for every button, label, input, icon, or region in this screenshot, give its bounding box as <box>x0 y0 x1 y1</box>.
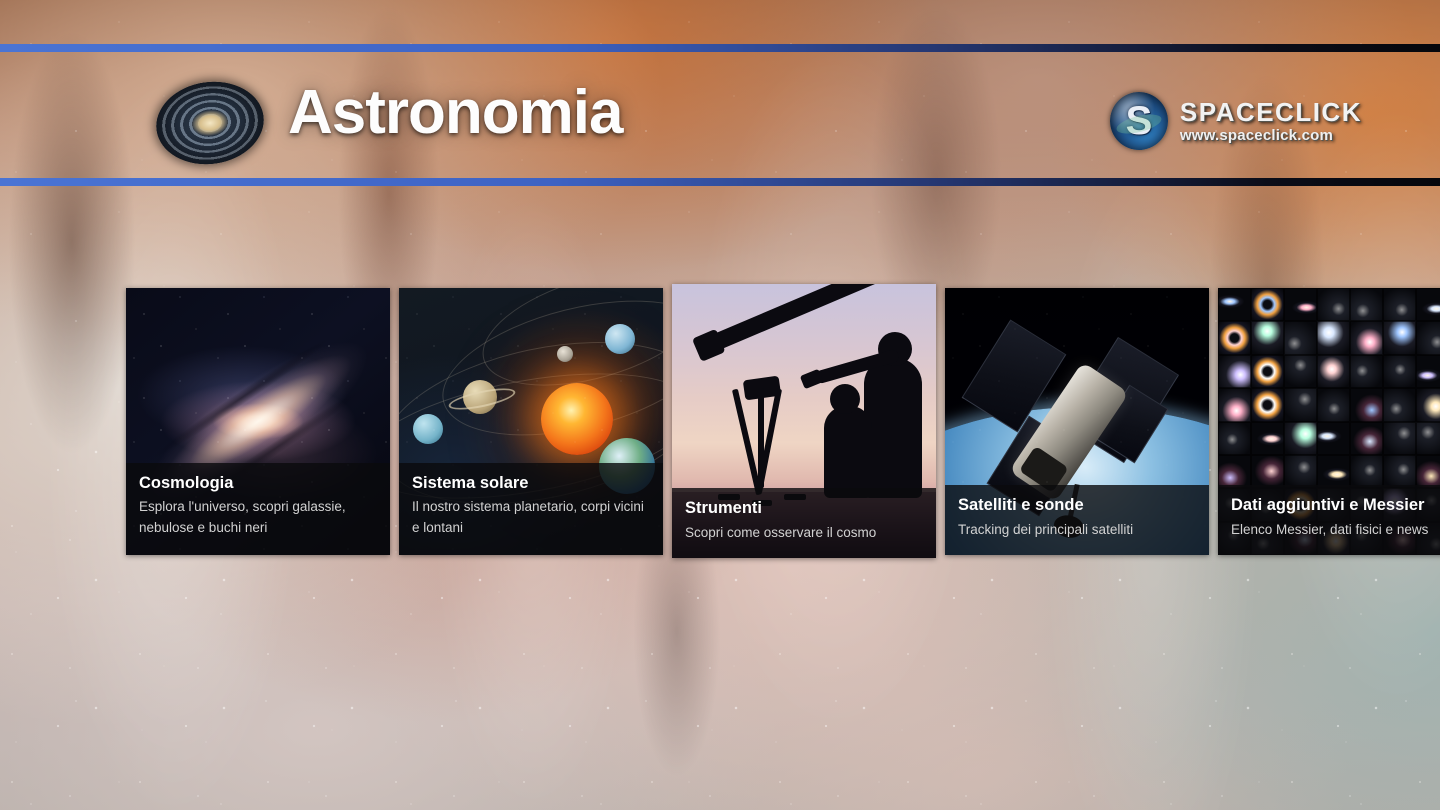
header-rule-top <box>0 44 1440 52</box>
tile-caption: Satelliti e sonde Tracking dei principal… <box>945 485 1209 555</box>
page-root: Astronomia SPACECLICK www.spaceclick.com… <box>0 0 1440 810</box>
tile-strumenti[interactable]: Strumenti Scopri come osservare il cosmo <box>672 284 936 558</box>
brand-url: www.spaceclick.com <box>1180 128 1362 143</box>
header-rule-bottom <box>0 178 1440 186</box>
tile-subtitle: Elenco Messier, dati fisici e news <box>1231 520 1440 541</box>
tile-subtitle: Tracking dei principali satelliti <box>958 520 1196 541</box>
brand-name: SPACECLICK <box>1180 99 1362 125</box>
page-title: Astronomia <box>288 82 622 144</box>
tile-subtitle: Esplora l'universo, scopri galassie, neb… <box>139 497 377 539</box>
tile-caption: Dati aggiuntivi e Messier Elenco Messier… <box>1218 485 1440 555</box>
tile-subtitle: Scopri come osservare il cosmo <box>685 523 923 544</box>
tile-satelliti-e-sonde[interactable]: Satelliti e sonde Tracking dei principal… <box>945 288 1209 555</box>
tile-sistema-solare[interactable]: Sistema solare Il nostro sistema planeta… <box>399 288 663 555</box>
tile-caption: Sistema solare Il nostro sistema planeta… <box>399 463 663 555</box>
brand-logo[interactable]: SPACECLICK www.spaceclick.com <box>1110 92 1362 150</box>
tile-title: Dati aggiuntivi e Messier <box>1231 495 1440 516</box>
tile-strip: Cosmologia Esplora l'universo, scopri ga… <box>126 288 1440 558</box>
tile-title: Satelliti e sonde <box>958 495 1196 516</box>
tile-dati-aggiuntivi-e-messier[interactable]: Dati aggiuntivi e Messier Elenco Messier… <box>1218 288 1440 555</box>
spaceclick-globe-icon <box>1110 92 1168 150</box>
tile-title: Strumenti <box>685 498 923 519</box>
tile-cosmologia[interactable]: Cosmologia Esplora l'universo, scopri ga… <box>126 288 390 555</box>
tile-title: Cosmologia <box>139 473 377 494</box>
tile-caption: Strumenti Scopri come osservare il cosmo <box>672 488 936 558</box>
tile-subtitle: Il nostro sistema planetario, corpi vici… <box>412 497 650 539</box>
tile-caption: Cosmologia Esplora l'universo, scopri ga… <box>126 463 390 555</box>
tile-title: Sistema solare <box>412 473 650 494</box>
